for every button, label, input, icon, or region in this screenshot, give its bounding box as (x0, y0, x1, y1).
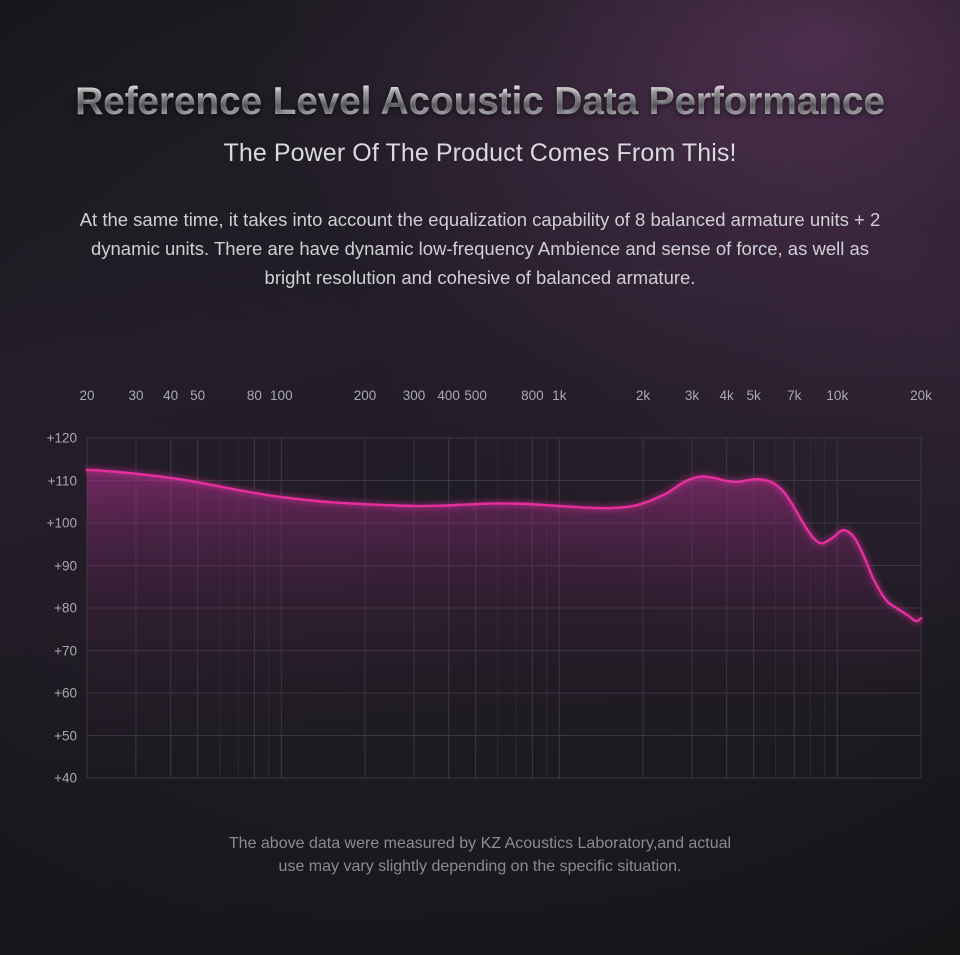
x-axis-tick: 1k (552, 388, 566, 403)
x-axis-tick: 40 (163, 388, 178, 403)
x-axis-tick: 50 (190, 388, 205, 403)
x-axis-tick: 300 (403, 388, 426, 403)
page-subtitle: The Power Of The Product Comes From This… (0, 139, 960, 168)
series-area-fill (87, 470, 921, 778)
footnote-line-2: use may vary slightly depending on the s… (0, 855, 960, 878)
x-axis-tick: 800 (521, 388, 544, 403)
x-axis-tick: 20k (910, 388, 932, 403)
grid-major (87, 438, 921, 778)
x-axis-tick: 100 (270, 388, 293, 403)
intro-paragraph: At the same time, it takes into account … (70, 205, 890, 292)
x-axis-tick: 5k (746, 388, 760, 403)
x-axis-tick: 20 (79, 388, 94, 403)
page-title: Reference Level Acoustic Data Performanc… (0, 80, 960, 124)
y-axis-tick: +70 (29, 643, 77, 658)
footnote-line-1: The above data were measured by KZ Acous… (0, 832, 960, 855)
footnote: The above data were measured by KZ Acous… (0, 832, 960, 878)
y-axis-tick: +80 (29, 601, 77, 616)
x-axis-tick: 10k (826, 388, 848, 403)
x-axis-tick: 400 (437, 388, 460, 403)
page-content: Reference Level Acoustic Data Performanc… (0, 0, 960, 955)
x-axis-tick: 2k (636, 388, 650, 403)
y-axis-tick: +120 (29, 431, 77, 446)
x-axis-tick: 80 (247, 388, 262, 403)
x-axis-tick: 4k (720, 388, 734, 403)
header-block: Reference Level Acoustic Data Performanc… (0, 80, 960, 292)
x-axis-tick: 30 (128, 388, 143, 403)
x-axis-tick: 7k (787, 388, 801, 403)
y-axis-tick: +60 (29, 686, 77, 701)
y-axis-tick: +90 (29, 558, 77, 573)
grid-minor (87, 438, 921, 778)
x-axis-tick: 500 (464, 388, 487, 403)
y-axis-tick: +40 (29, 771, 77, 786)
x-axis-tick: 3k (685, 388, 699, 403)
y-axis-tick: +110 (29, 473, 77, 488)
y-axis-tick: +50 (29, 728, 77, 743)
series-line (87, 470, 921, 621)
y-axis-tick: +100 (29, 516, 77, 531)
x-axis-tick: 200 (354, 388, 377, 403)
